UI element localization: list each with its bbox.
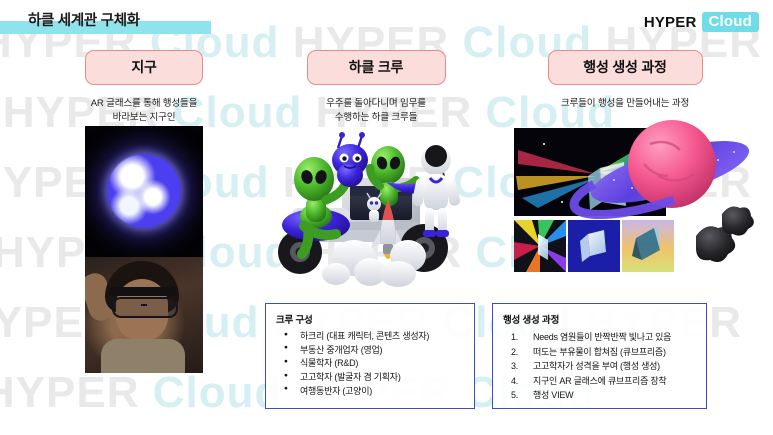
torso-shape <box>101 339 185 373</box>
section-caption-earth: AR 글래스를 통해 행성들을 바라보는 지구인 <box>28 97 260 125</box>
caption-line-1: 우주를 돌아다니며 임무를 <box>262 97 490 111</box>
slide-canvas: HYPER Cloud HYPER Cloud HYPER Cloud HYPE… <box>0 0 773 435</box>
logo-cloud-badge: Cloud <box>702 12 760 32</box>
section-planet: 행성 생성 과정 크루들이 행성을 만들어내는 과정 <box>494 50 756 111</box>
planet-collage-svg <box>508 110 760 290</box>
section-title-planet: 행성 생성 과정 <box>548 50 703 85</box>
page-title: 하클 세계관 구체화 <box>28 9 140 30</box>
small-robot-character <box>367 193 381 222</box>
crew-list: 하크리 (대표 캐릭터, 콘텐츠 생성자) 부동산 중개업자 (영업) 식물학자… <box>266 330 474 398</box>
planet-process-box: 행성 생성 과정 Needs 염원들이 반짝반짝 빛나고 있음 떠도는 부유물이… <box>492 303 707 409</box>
list-item: 고고학자 (발굴자 겸 기획자) <box>300 371 468 385</box>
section-caption-crew: 우주를 돌아다니며 임무를 수행하는 하클 크루들 <box>262 97 490 125</box>
person-with-ar-glasses-photo <box>85 257 203 373</box>
planet-step-list: Needs 염원들이 반짝반짝 빛나고 있음 떠도는 부유물이 합쳐짐 (큐브프… <box>493 330 706 403</box>
white-cloud-shapes <box>322 240 426 287</box>
crew-illustration-svg <box>258 130 488 288</box>
list-item: 지구인 AR 글래스에 큐브프리즘 장착 <box>533 374 700 389</box>
night-sky-backdrop <box>85 126 203 257</box>
caption-line-2: 바라보는 지구인 <box>28 111 260 125</box>
crew-box-title: 크루 구성 <box>276 312 474 326</box>
crew-3d-illustration <box>258 130 488 288</box>
list-item: 부동산 중개업자 (영업) <box>300 344 468 358</box>
crew-composition-box: 크루 구성 하크리 (대표 캐릭터, 콘텐츠 생성자) 부동산 중개업자 (영업… <box>265 303 475 409</box>
list-item: 고고학자가 성격을 부여 (행성 생성) <box>533 359 700 374</box>
section-earth: 지구 AR 글래스를 통해 행성들을 바라보는 지구인 <box>28 50 260 125</box>
section-caption-planet: 크루들이 행성을 만들어내는 과정 <box>494 97 756 111</box>
caption-line-1: 크루들이 행성을 만들어내는 과정 <box>494 97 756 111</box>
section-title-crew: 하클 크루 <box>307 50 446 85</box>
glowing-planet-icon <box>107 154 181 228</box>
planet-box-title: 행성 생성 과정 <box>503 312 706 326</box>
prism-planet-collage <box>508 110 760 290</box>
brand-logo: HYPER Cloud <box>644 12 759 32</box>
list-item: 여행동반자 (고양이) <box>300 385 468 399</box>
logo-hyper-text: HYPER <box>644 14 697 31</box>
caption-line-1: AR 글래스를 통해 행성들을 <box>28 97 260 111</box>
ar-glasses-icon <box>112 297 178 318</box>
list-item: 식물학자 (R&D) <box>300 357 468 371</box>
caption-line-2: 수행하는 하클 크루들 <box>262 111 490 125</box>
list-item: 떠도는 부유물이 합쳐짐 (큐브프리즘) <box>533 345 700 360</box>
list-item: 하크리 (대표 캐릭터, 콘텐츠 생성자) <box>300 330 468 344</box>
earth-ar-glasses-photo <box>85 126 203 373</box>
ar-headband-icon <box>110 287 176 296</box>
prism-thumbnail-strip <box>514 220 674 272</box>
list-item: Needs 염원들이 반짝반짝 빛나고 있음 <box>533 330 700 345</box>
section-crew: 하클 크루 우주를 돌아다니며 임무를 수행하는 하클 크루들 <box>262 50 490 125</box>
list-item: 행성 VIEW <box>533 388 700 403</box>
section-title-earth: 지구 <box>85 50 203 85</box>
asteroid-rocks <box>696 206 754 262</box>
watermark-hyper-text: HYPER <box>0 368 139 417</box>
watermark-cloud-text: Cloud <box>153 368 283 417</box>
